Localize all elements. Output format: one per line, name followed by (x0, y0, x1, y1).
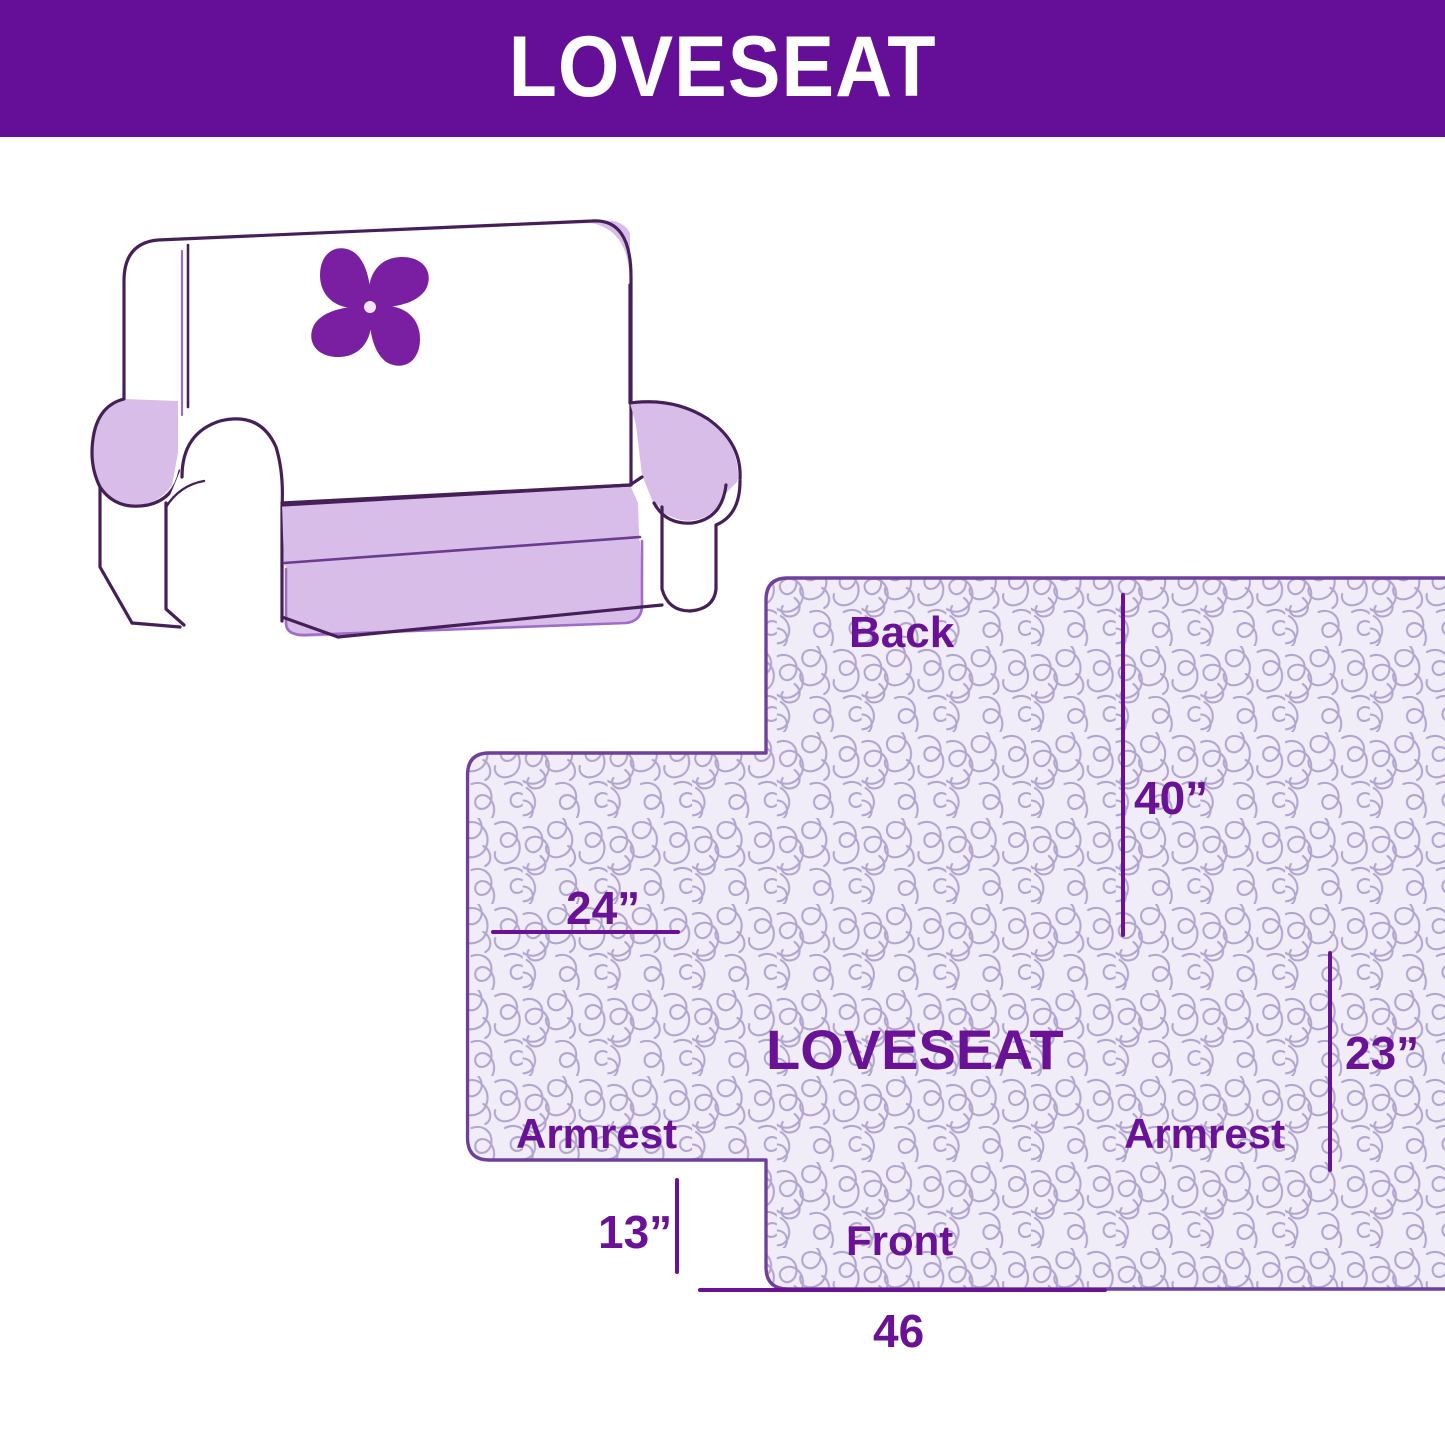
panel-label-back: Back (849, 611, 954, 655)
header-banner: LOVESEAT (0, 0, 1445, 137)
product-dimension-infographic: LOVESEAT (0, 0, 1445, 1445)
dimension-label-front-height: 13” (598, 1209, 672, 1255)
cover-flat-pattern (460, 560, 1445, 1390)
panel-label-armrest-right: Armrest (1124, 1113, 1285, 1155)
dimension-label-armrest-height: 23” (1345, 1030, 1419, 1076)
page-title: LOVESEAT (509, 24, 937, 110)
dimension-label-back-height: 40” (1134, 775, 1208, 821)
cross-shape-diagram (460, 560, 1445, 1390)
panel-label-armrest-left: Armrest (516, 1113, 677, 1155)
dimension-label-back-offset: 24” (566, 885, 640, 931)
panel-label-front: Front (846, 1220, 953, 1262)
dimension-label-front-width: 46 (873, 1308, 924, 1354)
panel-label-loveseat: LOVESEAT (766, 1022, 1064, 1078)
